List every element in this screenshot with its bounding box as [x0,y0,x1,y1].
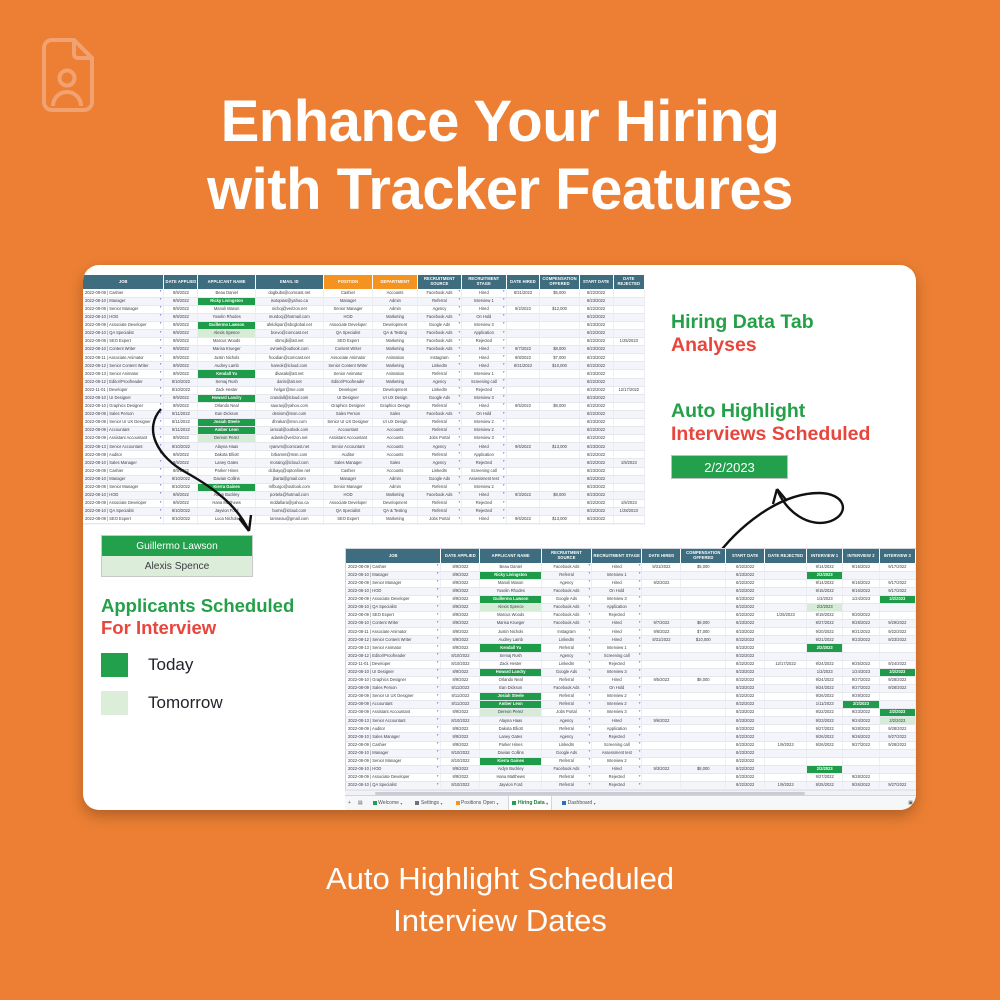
table-cell[interactable]: Assessment test [462,475,506,483]
table-cell[interactable]: 8/31/2022 [642,636,681,644]
table-cell[interactable]: Cashier [323,289,373,297]
table-cell[interactable]: denism@msn.com [255,410,323,418]
table-cell[interactable]: 9/2/2022 [506,305,540,313]
table-cell[interactable]: Agency [417,305,461,313]
table-cell[interactable]: $7,000 [540,354,579,362]
table-cell[interactable]: Cindy Mahoney [198,524,255,525]
table-cell[interactable]: Zack Hester [198,386,255,394]
table-cell[interactable]: Referral [417,508,461,516]
table-cell[interactable]: sauravj@yahoo.com [255,402,323,410]
table-cell[interactable]: Beau Daniel [198,289,255,297]
table-row[interactable]: 2022-08-11 | Associate Animator8/9/2022J… [346,628,916,636]
table-cell[interactable]: 2022-08-09 | Senior Manager [346,579,441,587]
table-cell[interactable]: 8/9/2022 [164,491,198,499]
table-cell[interactable]: LinkedIn [417,467,461,475]
table-cell[interactable]: 9/27/2022 [807,725,843,733]
table-cell[interactable] [613,370,644,378]
table-cell[interactable]: jbarta@gmail.com [255,475,323,483]
table-cell[interactable]: Manoli Mason [198,305,255,313]
table-cell[interactable]: Referral [417,402,461,410]
table-cell[interactable]: murdocj@hotmail.com [255,313,323,321]
table-cell[interactable]: 2022-08-10 | QA Specialist [346,603,441,611]
table-cell[interactable] [613,289,644,297]
table-cell[interactable] [765,701,807,709]
table-cell[interactable]: 2022-08-10 | Manager [346,749,441,757]
table-cell[interactable] [642,749,681,757]
table-cell[interactable]: 8/10/2022 [164,524,198,525]
table-cell[interactable]: Rejected [462,499,506,507]
table-cell[interactable] [540,427,579,435]
table-cell[interactable]: Hired [592,765,642,773]
table-cell[interactable]: Facebook Ads [541,603,591,611]
table-cell[interactable]: Admin [373,483,417,491]
table-cell[interactable]: 8/22/2022 [579,410,613,418]
table-cell[interactable] [506,435,540,443]
table-cell[interactable]: Animation [373,354,417,362]
table-cell[interactable]: Luca Nichols [198,516,255,524]
table-cell[interactable]: Jobs Portal [417,516,461,524]
table-cell[interactable]: 8/22/2022 [579,435,613,443]
table-cell[interactable]: 2/2/2023 [879,668,915,676]
table-cell[interactable]: 8/9/2022 [441,765,480,773]
table-cell[interactable]: Development [373,386,417,394]
table-cell[interactable]: 8/9/2022 [441,620,480,628]
table-cell[interactable]: 2022-08-09 | Senior UI UX Designer [346,693,441,701]
table-cell[interactable]: Accounts [373,427,417,435]
table-cell[interactable]: Referral [417,499,461,507]
table-cell[interactable]: 8/9/2022 [441,636,480,644]
table-cell[interactable] [765,603,807,611]
table-row[interactable]: 2022-08-09 | Sales Person8/11/2022Ean Di… [83,410,645,418]
table-cell[interactable]: 9/24/2022 [879,660,915,668]
table-cell[interactable] [613,419,644,427]
table-cell[interactable]: Screening call [462,378,506,386]
table-cell[interactable]: 9/2/2022 [642,579,681,587]
table-cell[interactable] [843,757,879,765]
table-cell[interactable]: Referral [417,370,461,378]
table-cell[interactable] [765,693,807,701]
sidebar-toggle-icon[interactable]: ▣ [908,800,913,806]
table-cell[interactable]: 8/9/2022 [441,628,480,636]
table-cell[interactable]: Interview 3 [592,595,642,603]
table-cell[interactable]: Hired [592,579,642,587]
table-row[interactable]: 2022-08-09 | Associate Developer8/9/2022… [83,321,645,329]
table-cell[interactable]: Hired [462,443,506,451]
table-cell[interactable]: dkasak@att.net [255,370,323,378]
table-cell[interactable]: Hired [462,362,506,370]
table-cell[interactable]: Rejected [462,338,506,346]
table-cell[interactable]: 8/11/2022 [441,701,480,709]
tab-positions-open[interactable]: Positions Open▾ [453,799,502,807]
table-cell[interactable] [765,709,807,717]
table-cell[interactable] [613,427,644,435]
table-cell[interactable] [506,508,540,516]
table-cell[interactable]: 8/23/2022 [726,644,765,652]
table-cell[interactable] [765,644,807,652]
table-cell[interactable]: Justin Nichols [480,628,541,636]
table-cell[interactable]: 9/6/2022 [642,717,681,725]
table-cell[interactable]: QA & Testing [373,329,417,337]
table-cell[interactable]: Guillermo Lawson [198,321,255,329]
table-cell[interactable] [613,402,644,410]
table-cell[interactable] [613,313,644,321]
table-row[interactable]: 2022-08-10 | QA Specialist8/10/2022Jayvi… [346,782,916,790]
table-cell[interactable]: Jobs Portal [417,435,461,443]
table-cell[interactable]: 9/24/2022 [843,717,879,725]
table-cell[interactable]: Accounts [373,435,417,443]
table-cell[interactable]: 2022-08-09 | Assistant Accountant [83,435,164,443]
table-cell[interactable]: 9/28/2022 [843,773,879,781]
table-cell[interactable]: 2022-08-10 | HOD [83,313,164,321]
table-cell[interactable]: 1/25/2023 [765,612,807,620]
table-cell[interactable]: 9/7/2022 [642,620,681,628]
table-cell[interactable]: 8/9/2022 [164,297,198,305]
table-cell[interactable]: mddallara@yahoo.ca [255,499,323,507]
table-cell[interactable]: 2022-08-09 | Accountant [83,427,164,435]
table-cell[interactable] [613,451,644,459]
table-cell[interactable]: 8/9/2022 [164,459,198,467]
table-cell[interactable]: Facebook Ads [541,684,591,692]
table-cell[interactable]: 1/3/2023 [807,595,843,603]
table-cell[interactable]: $13,000 [540,443,579,451]
table-cell[interactable] [807,749,843,757]
table-row[interactable]: 2022-08-10 | Manager8/10/2022Davian Coll… [346,749,916,757]
table-cell[interactable]: 8/9/2022 [164,362,198,370]
table-cell[interactable] [879,612,915,620]
table-row[interactable]: 2022-08-09 | Cashier8/9/2022Parker Hines… [346,741,916,749]
table-cell[interactable] [681,741,726,749]
table-cell[interactable] [879,773,915,781]
table-cell[interactable] [681,652,726,660]
table-cell[interactable]: Interview 1 [592,644,642,652]
table-cell[interactable]: $8,000 [681,676,726,684]
table-cell[interactable]: 8/10/2022 [164,508,198,516]
table-cell[interactable] [765,684,807,692]
table-cell[interactable]: HOD [323,491,373,499]
table-cell[interactable]: Instagram [541,628,591,636]
table-cell[interactable]: Facebook Ads [417,346,461,354]
table-cell[interactable]: Hired [462,354,506,362]
table-cell[interactable] [613,524,644,525]
table-cell[interactable]: 2022-08-10 | Sales Manager [83,459,164,467]
table-cell[interactable]: 9/28/2022 [879,725,915,733]
table-cell[interactable] [765,571,807,579]
table-cell[interactable]: Facebook Ads [417,410,461,418]
table-cell[interactable]: Rejected [462,386,506,394]
table-cell[interactable]: 8/23/2022 [726,717,765,725]
table-row[interactable]: 2022-08-10 | UI Designer8/9/2022Howard L… [346,668,916,676]
table-cell[interactable]: Content Writer [323,524,373,525]
table-cell[interactable] [879,765,915,773]
table-cell[interactable]: Auditor [323,451,373,459]
table-cell[interactable]: 8/31/2022 [506,289,540,297]
table-cell[interactable]: Facebook Ads [541,587,591,595]
table-cell[interactable] [540,386,579,394]
table-cell[interactable]: Referral [541,676,591,684]
table-cell[interactable]: Parker Hines [480,741,541,749]
table-cell[interactable]: 8/22/2022 [726,587,765,595]
table-cell[interactable]: 8/22/2022 [579,289,613,297]
table-cell[interactable]: froodian@comcast.net [255,354,323,362]
table-cell[interactable]: dhrakar@msn.com [255,419,323,427]
table-row[interactable]: 2022-08-09 | Associate Developer8/9/2022… [83,499,645,507]
column-header[interactable]: COMPENSATION OFFERED [540,275,579,289]
table-cell[interactable]: sbmcjb@att.net [255,338,323,346]
table-cell[interactable]: 1/24/2023 [843,668,879,676]
table-cell[interactable]: 8/23/2022 [579,419,613,427]
table-cell[interactable] [765,757,807,765]
table-cell[interactable]: LinkedIn [541,741,591,749]
table-cell[interactable] [642,782,681,790]
table-cell[interactable]: moraing@icloud.com [255,459,323,467]
table-cell[interactable]: Amber Leon [198,427,255,435]
table-cell[interactable]: Kendall Yu [480,644,541,652]
table-cell[interactable]: 1/3/2023 [807,668,843,676]
table-cell[interactable]: Hired [462,305,506,313]
table-cell[interactable]: Rejected [592,612,642,620]
table-cell[interactable]: 8/9/2022 [441,709,480,717]
table-cell[interactable]: 2022-08-10 | UI Designer [346,668,441,676]
table-cell[interactable]: Interview 2 [462,427,506,435]
table-cell[interactable]: Orlando Neal [198,402,255,410]
table-row[interactable]: 2022-08-10 | HOD8/9/2022Aidyn BuckleyFac… [346,765,916,773]
table-cell[interactable]: 2022-08-12 | Senior Content Writer [346,636,441,644]
table-cell[interactable]: Interview 1 [462,297,506,305]
table-cell[interactable]: 8/22/2022 [726,579,765,587]
table-cell[interactable]: 8/23/2022 [726,741,765,749]
table-cell[interactable] [879,701,915,709]
table-cell[interactable] [765,636,807,644]
table-cell[interactable]: 9/24/2022 [807,684,843,692]
table-cell[interactable]: UI UX Design [373,419,417,427]
table-cell[interactable] [613,410,644,418]
table-cell[interactable] [506,467,540,475]
table-cell[interactable]: mfburgo@outlook.com [255,483,323,491]
table-cell[interactable]: Marketing [373,346,417,354]
table-cell[interactable]: 2022-08-10 | Graphics Designer [83,402,164,410]
column-header[interactable]: DATE APPLIED [164,275,198,289]
table-cell[interactable] [540,313,579,321]
table-cell[interactable]: Orlando Neal [480,676,541,684]
table-cell[interactable]: Jobs Portal [541,709,591,717]
table-cell[interactable] [843,603,879,611]
table-cell[interactable] [540,394,579,402]
table-cell[interactable] [843,765,879,773]
table-cell[interactable]: LinkedIn [541,636,591,644]
table-cell[interactable]: Josiah Steele [480,693,541,701]
table-cell[interactable]: 1/9/2023 [613,459,644,467]
table-cell[interactable] [613,483,644,491]
table-cell[interactable]: Screening call [592,741,642,749]
table-cell[interactable]: QA & Testing [373,508,417,516]
column-header[interactable]: RECRUITMENT STAGE [592,549,642,563]
table-row[interactable]: 2022-08-09 | Senior UI UX Designer8/11/2… [346,693,916,701]
chevron-down-icon[interactable]: ▾ [546,801,548,806]
column-header[interactable]: INTERVIEW 1 [807,549,843,563]
table-cell[interactable]: 8/22/2022 [579,459,613,467]
table-cell[interactable]: 9/23/2022 [843,636,879,644]
table-cell[interactable] [807,757,843,765]
table-cell[interactable]: 9/29/2022 [879,620,915,628]
table-row[interactable]: 2022-08-09 | SEO Expert8/9/2022Marcus Wo… [346,612,916,620]
table-cell[interactable]: Associate Developer [323,499,373,507]
table-cell[interactable] [540,451,579,459]
table-cell[interactable]: Agency [417,459,461,467]
table-cell[interactable] [540,297,579,305]
table-cell[interactable]: Google Ads [541,749,591,757]
table-cell[interactable] [642,660,681,668]
table-cell[interactable]: Accounts [373,289,417,297]
table-cell[interactable]: 8/23/2022 [579,394,613,402]
table-row[interactable]: 2022-11-01 | Developer8/10/2022Zack Hest… [346,660,916,668]
table-cell[interactable]: 8/22/2022 [579,313,613,321]
table-cell[interactable]: 8/9/2022 [441,595,480,603]
table-cell[interactable]: Hired [592,620,642,628]
table-cell[interactable]: 2022-08-10 | Manager [346,571,441,579]
table-cell[interactable]: 2022-08-09 | SEO Expert [83,516,164,524]
table-cell[interactable] [681,587,726,595]
table-cell[interactable]: 8/23/2022 [726,684,765,692]
table-cell[interactable]: ovroek@outlook.com [255,346,323,354]
hiring-data-sheet-top[interactable]: JOBDATE APPLIEDAPPLICANT NAMEEMAIL IDPOS… [83,275,645,525]
table-cell[interactable]: Rejected [592,782,642,790]
table-cell[interactable]: Jayvion Ford [480,782,541,790]
table-cell[interactable]: Beau Daniel [480,563,541,571]
table-cell[interactable]: Zack Hester [480,660,541,668]
table-cell[interactable]: 2022-08-12 | Editor/Proofreader [83,378,164,386]
table-row[interactable]: 2022-08-10 | HOD8/9/2022Yoselin RhodesFa… [346,587,916,595]
table-cell[interactable]: 8/10/2022 [164,475,198,483]
tab-welcome[interactable]: Welcome▾ [370,799,406,807]
table-cell[interactable]: 8/9/2022 [164,329,198,337]
table-cell[interactable]: Screening call [592,652,642,660]
table-cell[interactable] [642,684,681,692]
table-cell[interactable]: 1/9/2023 [613,499,644,507]
table-cell[interactable]: Development [373,499,417,507]
table-cell[interactable] [613,394,644,402]
table-cell[interactable]: Marcus Woods [198,338,255,346]
table-cell[interactable] [613,362,644,370]
table-cell[interactable]: Yoselin Rhodes [480,587,541,595]
table-cell[interactable]: dcibayq@optonline.net [255,467,323,475]
table-cell[interactable]: portela@hotmail.com [255,491,323,499]
table-cell[interactable]: Facebook Ads [541,620,591,628]
table-cell[interactable]: Hana Matthews [480,773,541,781]
table-cell[interactable]: 8/31/2022 [642,563,681,571]
table-cell[interactable]: 8/22/2022 [726,603,765,611]
table-row[interactable]: 2022-08-09 | Cashier8/9/2022Beau Danield… [83,289,645,297]
table-row[interactable]: 2022-08-09 | Senior Manager8/9/2022Manol… [346,579,916,587]
table-cell[interactable] [681,693,726,701]
table-cell[interactable] [540,467,579,475]
table-cell[interactable]: 2022-08-10 | QA Specialist [346,782,441,790]
column-header[interactable]: EMAIL ID [255,275,323,289]
table-cell[interactable]: 9/20/2022 [807,628,843,636]
table-row[interactable]: 2022-08-10 | Manager8/9/2022Ricky Living… [346,571,916,579]
table-cell[interactable]: 1/28/2023 [613,508,644,516]
table-cell[interactable]: 8/23/2022 [726,571,765,579]
table-cell[interactable]: Senior Animator [323,370,373,378]
table-cell[interactable]: Agency [417,524,461,525]
table-cell[interactable]: 2022-08-13 | Senior Animator [83,370,164,378]
table-cell[interactable] [681,709,726,717]
table-cell[interactable] [765,579,807,587]
table-cell[interactable]: 9/17/2022 [879,563,915,571]
table-cell[interactable]: Justin Nichols [198,354,255,362]
table-row[interactable]: 2022-08-10 | Manager8/9/2022Ricky Living… [83,297,645,305]
table-cell[interactable]: 2/2/2023 [879,709,915,717]
table-cell[interactable]: On Hold [592,587,642,595]
table-cell[interactable]: 8/11/2022 [441,693,480,701]
table-cell[interactable]: Alayna Haas [198,443,255,451]
table-row[interactable]: 2022-08-10 | Sales Manager8/9/2022Laney … [346,733,916,741]
table-cell[interactable]: 2022-08-10 | QA Specialist [83,508,164,516]
table-cell[interactable]: Rejected [592,773,642,781]
table-cell[interactable]: 9/26/2022 [807,693,843,701]
column-header[interactable]: DATE HIRED [506,275,540,289]
table-cell[interactable]: Dakota Elliott [480,725,541,733]
table-cell[interactable]: Aidyn Buckley [198,491,255,499]
table-cell[interactable]: Referral [417,427,461,435]
table-cell[interactable] [506,338,540,346]
table-cell[interactable]: On Hold [592,684,642,692]
table-cell[interactable]: 2/2/2023 [807,644,843,652]
table-cell[interactable]: 8/22/2022 [726,676,765,684]
table-row[interactable]: 2022-08-12 | Senior Content Writer8/9/20… [346,636,916,644]
table-cell[interactable]: 2022-08-09 | Senior UI UX Designer [83,419,164,427]
table-cell[interactable]: Semaj Rush [198,378,255,386]
table-cell[interactable]: tamseau@gmail.com [255,516,323,524]
table-cell[interactable]: 8/23/2022 [579,524,613,525]
table-cell[interactable] [765,652,807,660]
table-cell[interactable]: 8/9/2022 [164,305,198,313]
table-cell[interactable]: 8/22/2022 [579,499,613,507]
table-cell[interactable]: $8,000 [681,765,726,773]
table-cell[interactable] [506,459,540,467]
table-cell[interactable] [506,483,540,491]
table-cell[interactable]: 8/22/2022 [579,402,613,410]
table-row[interactable]: 2022-08-09 | Accountant8/11/2022Amber Le… [346,701,916,709]
table-cell[interactable]: ryanvm@comcast.net [255,443,323,451]
table-cell[interactable]: 2022-08-09 | Cashier [346,563,441,571]
all-sheets-button[interactable]: ▤ [358,800,363,806]
table-cell[interactable]: 8/23/2022 [579,491,613,499]
table-cell[interactable] [613,297,644,305]
table-cell[interactable]: On Hold [462,410,506,418]
table-cell[interactable]: erwil@sbcglobal.net [255,524,323,525]
table-cell[interactable]: 9/28/2022 [879,741,915,749]
table-cell[interactable]: Yoselin Rhodes [198,313,255,321]
table-cell[interactable]: 2022-08-10 | Content Writer [346,620,441,628]
table-row[interactable]: 2022-08-10 | HOD8/9/2022Yoselin Rhodesmu… [83,313,645,321]
table-cell[interactable]: 9/28/2022 [843,620,879,628]
table-cell[interactable]: 9/22/2022 [807,709,843,717]
table-cell[interactable]: Instagram [417,354,461,362]
table-row[interactable]: 2022-08-09 | Cashier8/9/2022Parker Hines… [83,467,645,475]
table-cell[interactable]: Facebook Ads [541,612,591,620]
table-cell[interactable]: UI Designer [323,394,373,402]
table-cell[interactable] [642,644,681,652]
table-cell[interactable]: 9/3/2022 [506,491,540,499]
table-cell[interactable]: 8/23/2022 [579,467,613,475]
table-cell[interactable]: 2022-08-10 | Manager [83,297,164,305]
table-cell[interactable]: Interview 1 [592,571,642,579]
table-row[interactable]: 2022-08-10 | QA Specialist8/9/2022Alexis… [83,329,645,337]
table-cell[interactable]: 8/22/2022 [579,475,613,483]
table-cell[interactable]: 2022-08-10 | HOD [346,765,441,773]
table-cell[interactable]: LinkedIn [417,386,461,394]
table-cell[interactable]: $8,000 [540,346,579,354]
